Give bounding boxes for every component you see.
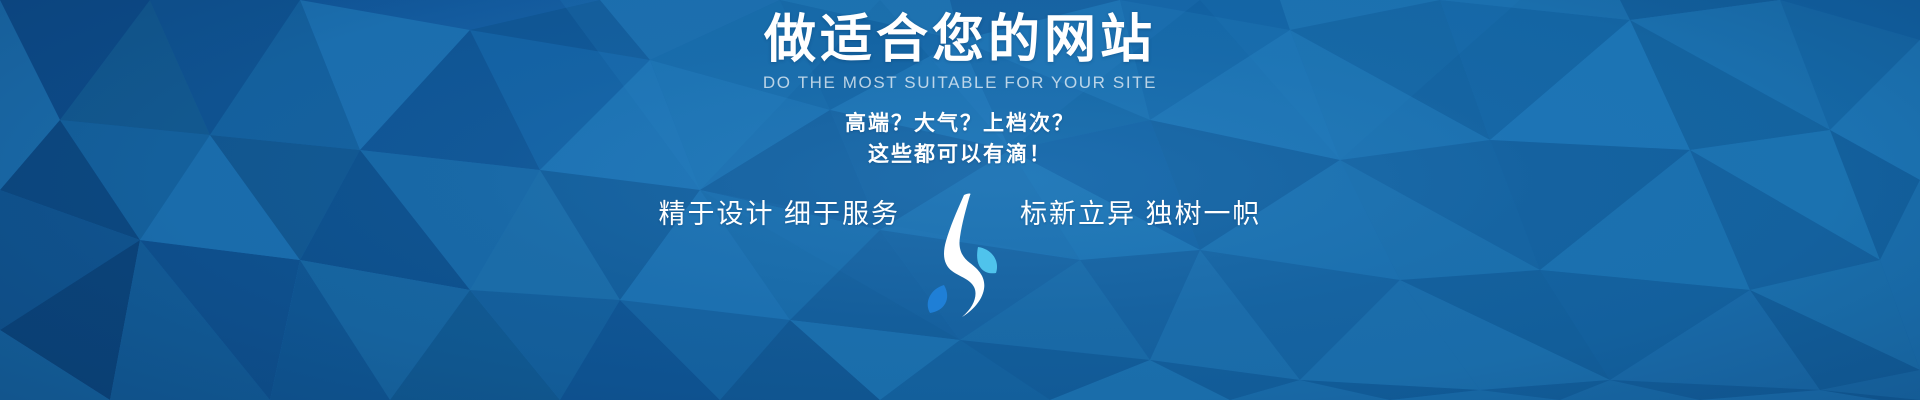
hero-banner: 做适合您的网站 DO THE MOST SUITABLE FOR YOUR SI… (0, 0, 1920, 400)
swan-leaf-logo-icon (900, 191, 1020, 321)
page-subtitle-english: DO THE MOST SUITABLE FOR YOUR SITE (763, 73, 1157, 93)
slogan-block: 高端？大气？上档次？ 这些都可以有滴！ (845, 110, 1075, 170)
slogan-line-2: 这些都可以有滴！ (868, 141, 1052, 169)
tagline-left: 精于设计 细于服务 (570, 191, 900, 228)
page-title: 做适合您的网站 (764, 13, 1156, 68)
brand-logo (900, 191, 1020, 321)
tagline-right: 标新立异 独树一帜 (1020, 191, 1350, 228)
slogan-line-1: 高端？大气？上档次？ (845, 110, 1075, 138)
bottom-tagline-row: 精于设计 细于服务 标新立异 独树一帜 (0, 191, 1920, 321)
banner-content: 做适合您的网站 DO THE MOST SUITABLE FOR YOUR SI… (0, 0, 1920, 400)
